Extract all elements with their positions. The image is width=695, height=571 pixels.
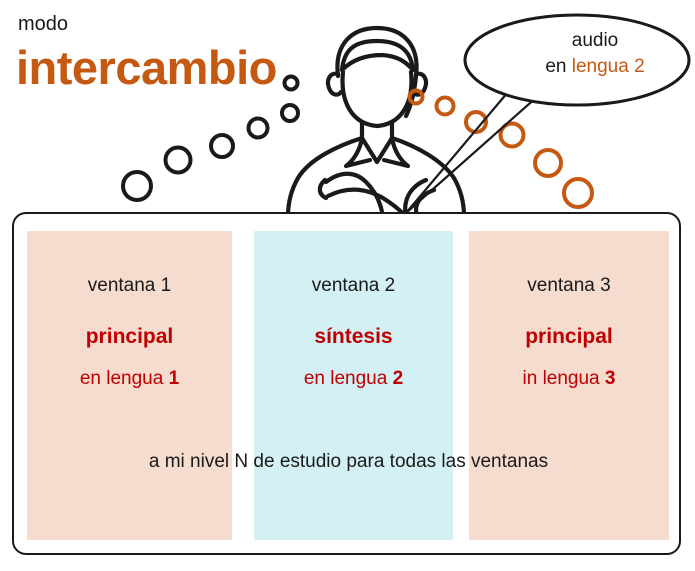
window-2-language-number: 2 (393, 368, 404, 389)
window-3-language: in lengua 3 (469, 369, 669, 388)
window-1-language-number: 1 (169, 368, 180, 389)
window-2-language-prefix: en lengua (304, 368, 393, 389)
window-2-role: síntesis (254, 326, 453, 347)
window-column-2[interactable]: ventana 2 síntesis en lengua 2 (254, 231, 453, 540)
window-2-language: en lengua 2 (254, 369, 453, 388)
window-1-language: en lengua 1 (27, 369, 232, 388)
window-1-role: principal (27, 326, 232, 347)
bubble-line-2-accent: lengua 2 (572, 56, 645, 77)
window-3-role: principal (469, 326, 669, 347)
window-1-label: ventana 1 (27, 276, 232, 295)
window-column-3[interactable]: ventana 3 principal in lengua 3 (469, 231, 669, 540)
bubble-line-2: en lengua 2 (502, 54, 688, 80)
window-3-language-prefix: in lengua (523, 368, 605, 389)
page-title: intercambio (16, 44, 277, 91)
window-2-label: ventana 2 (254, 276, 453, 295)
header-kicker: modo (18, 14, 68, 34)
speech-bubble-text: audio en lengua 2 (502, 28, 688, 80)
windows-panel: ventana 1 principal en lengua 1 ventana … (12, 212, 681, 555)
window-1-language-prefix: en lengua (80, 368, 169, 389)
window-3-label: ventana 3 (469, 276, 669, 295)
window-3-language-number: 3 (605, 368, 616, 389)
window-column-1[interactable]: ventana 1 principal en lengua 1 (27, 231, 232, 540)
bubble-line-2-prefix: en (545, 56, 571, 77)
panel-footnote: a mi nivel N de estudio para todas las v… (14, 452, 683, 471)
bubble-line-1: audio (502, 28, 688, 54)
